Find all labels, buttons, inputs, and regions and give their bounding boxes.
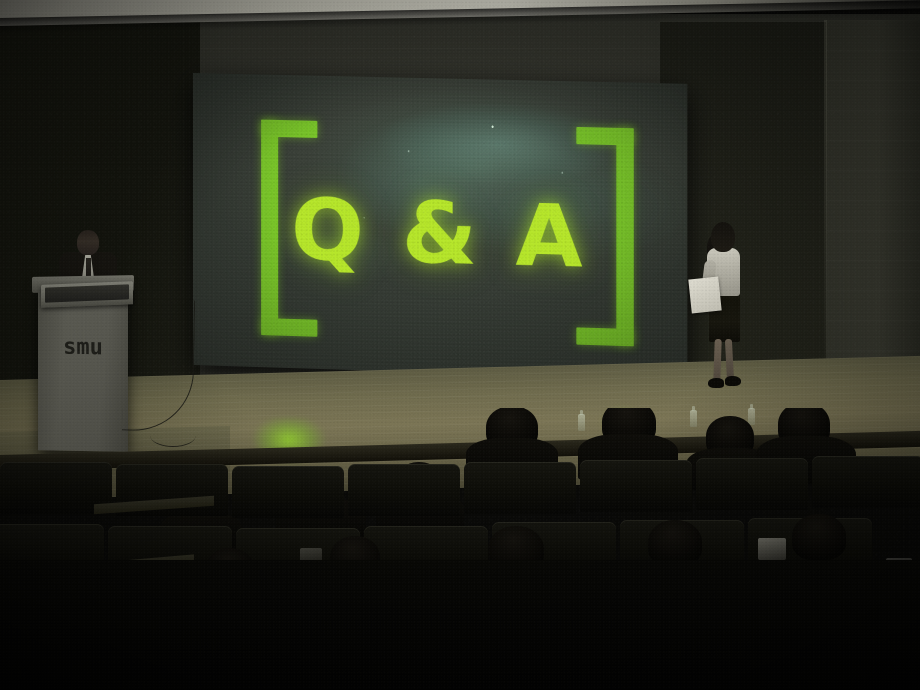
projected-slide: Q & A [193, 73, 687, 380]
audience-head [792, 514, 846, 560]
laptop-screen [45, 284, 129, 302]
presenter-shoe-right [725, 376, 741, 386]
auditorium-photo: Q & A smu [0, 0, 920, 690]
screen-grain [193, 73, 687, 380]
presenter-papers [688, 277, 721, 314]
laptop [41, 281, 133, 308]
presenter-shoe-left [708, 378, 724, 388]
smu-logo: smu [63, 335, 103, 361]
foreground-dark-area [0, 560, 920, 690]
projection-screen: Q & A [193, 73, 687, 380]
presenter-leg-left [713, 339, 722, 383]
presenter-standing [694, 222, 756, 394]
presenter-hair [711, 222, 735, 252]
speaker-head [77, 230, 99, 255]
audience-light-clothing [758, 538, 786, 560]
